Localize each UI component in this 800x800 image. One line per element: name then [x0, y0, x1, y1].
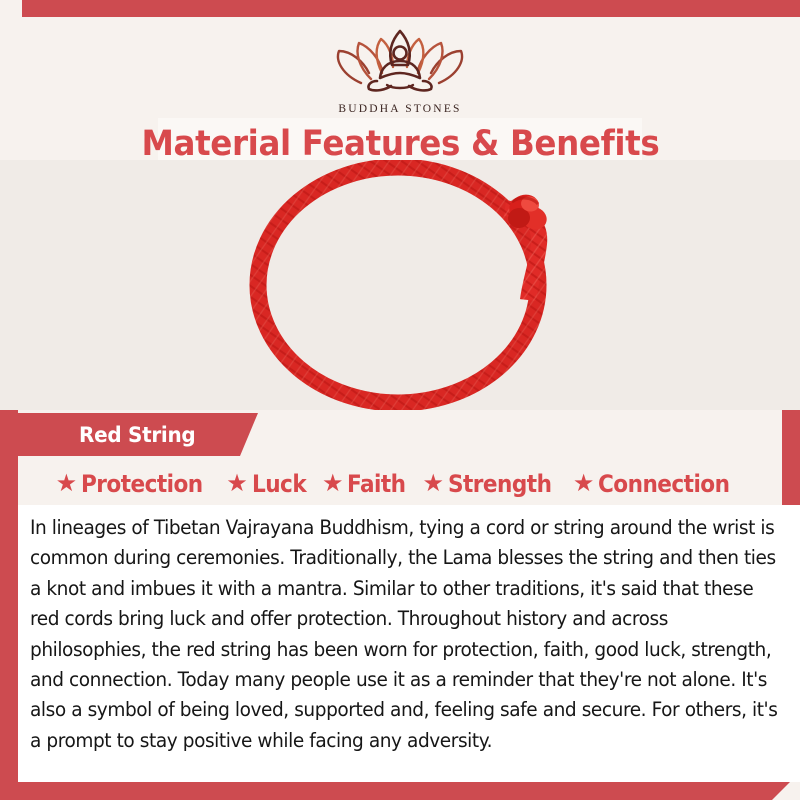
red-string-bracelet-illustration: [0, 160, 800, 410]
frame-top-bar: [22, 0, 800, 17]
benefits-row: ★ Protection ★ Luck ★ Faith ★ Strength ★…: [0, 464, 800, 504]
benefit-item-connection: ★ Connection: [573, 470, 745, 498]
benefit-item-luck: ★ Luck: [226, 470, 312, 498]
product-photo: [0, 160, 800, 410]
brand-name: BUDDHA STONES: [338, 103, 461, 115]
star-icon: ★: [226, 472, 248, 496]
header: BUDDHA STONES Material Features & Benefi…: [0, 17, 800, 160]
material-label: Red String: [79, 423, 195, 447]
benefit-item-strength: ★ Strength: [422, 470, 562, 498]
frame-bottom-bar: [0, 782, 790, 800]
benefit-item-faith: ★ Faith: [322, 470, 413, 498]
benefit-label: Luck: [252, 470, 306, 498]
benefit-label: Faith: [347, 470, 405, 498]
benefit-label: Connection: [598, 470, 729, 498]
benefit-label: Protection: [81, 470, 203, 498]
infographic-page: BUDDHA STONES Material Features & Benefi…: [0, 0, 800, 800]
star-icon: ★: [422, 472, 444, 496]
star-icon: ★: [56, 472, 78, 496]
description-panel: In lineages of Tibetan Vajrayana Buddhis…: [18, 505, 800, 782]
star-icon: ★: [573, 472, 595, 496]
brand-logo: BUDDHA STONES: [0, 17, 800, 115]
benefit-item-protection: ★ Protection: [56, 470, 217, 498]
star-icon: ★: [322, 472, 344, 496]
page-title: Material Features & Benefits: [141, 124, 659, 164]
benefit-label: Strength: [448, 470, 551, 498]
material-label-banner: Red String: [18, 413, 258, 456]
lotus-meditation-icon: [325, 23, 475, 100]
description-text: In lineages of Tibetan Vajrayana Buddhis…: [30, 513, 784, 756]
